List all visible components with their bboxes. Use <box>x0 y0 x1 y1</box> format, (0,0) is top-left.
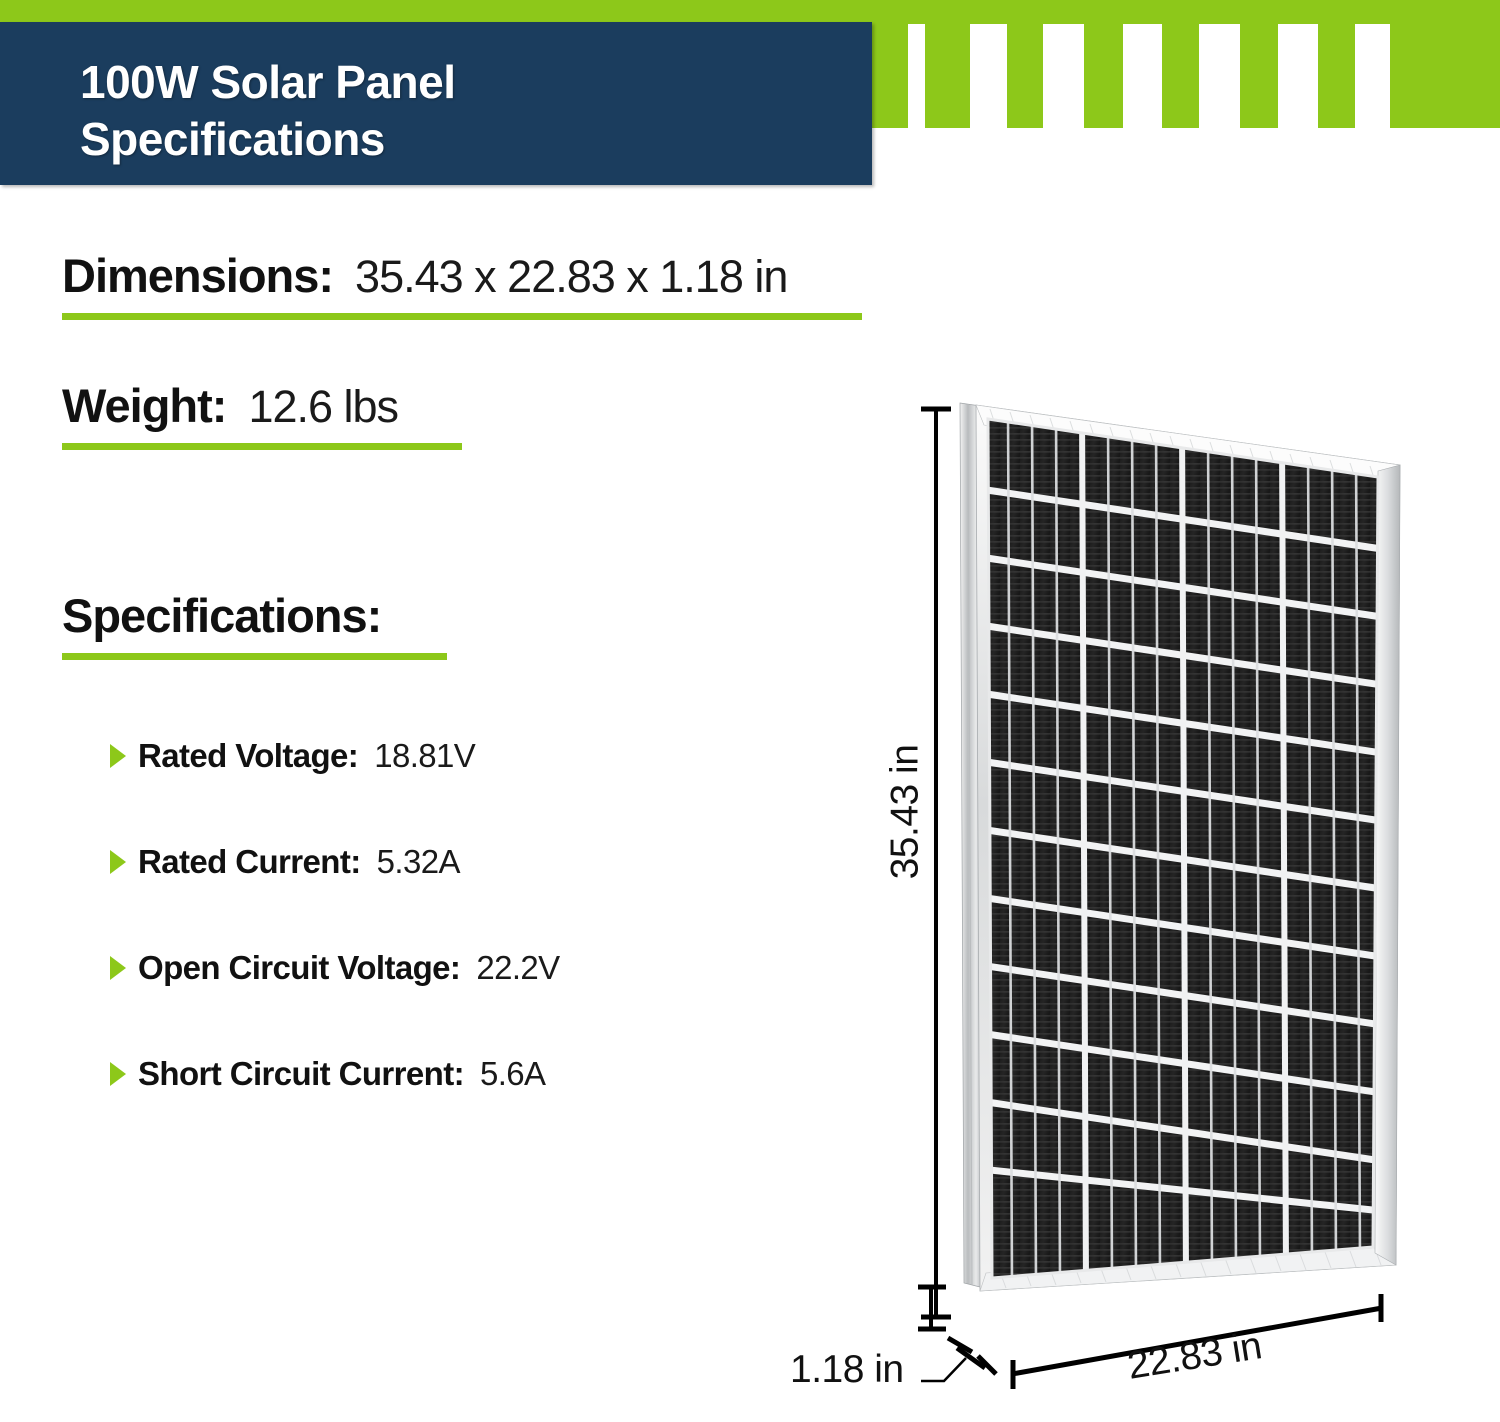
green-stripe-7 <box>1318 0 1355 128</box>
spec-value: 22.2V <box>476 949 559 987</box>
weight-block: Weight: 12.6 lbs <box>62 378 942 450</box>
list-item: Short Circuit Current: 5.6A <box>110 1046 560 1102</box>
dimensions-label: Dimensions: <box>62 248 333 303</box>
spec-label: Short Circuit Current: <box>138 1055 464 1093</box>
thickness-dimension-label: 1.18 in <box>790 1348 904 1392</box>
green-stripe-4 <box>1084 0 1123 128</box>
dimensions-block: Dimensions: 35.43 x 22.83 x 1.18 in <box>62 248 942 320</box>
specifications-block: Specifications: <box>62 588 942 660</box>
dimensions-value: 35.43 x 22.83 x 1.18 in <box>355 251 787 303</box>
triangle-bullet-icon <box>110 956 126 980</box>
spec-value: 18.81V <box>374 737 475 775</box>
specifications-heading: Specifications: <box>62 588 942 643</box>
specifications-underline <box>62 653 447 660</box>
weight-label: Weight: <box>62 378 226 433</box>
green-stripe-1 <box>872 0 908 128</box>
green-stripe-3 <box>1007 0 1043 128</box>
list-item: Rated Voltage: 18.81V <box>110 728 560 784</box>
spec-value: 5.32A <box>377 843 460 881</box>
height-dimension-label: 35.43 in <box>883 745 927 880</box>
list-item: Rated Current: 5.32A <box>110 834 560 890</box>
green-stripe-6 <box>1240 0 1278 128</box>
spec-value: 5.6A <box>480 1055 546 1093</box>
green-stripe-5 <box>1162 0 1199 128</box>
triangle-bullet-icon <box>110 744 126 768</box>
triangle-bullet-icon <box>110 1062 126 1086</box>
infographic-page: 100W Solar Panel Specifications Dimensio… <box>0 0 1500 1422</box>
solar-panel-image <box>930 385 1430 1335</box>
dimensions-underline <box>62 313 862 320</box>
page-title: 100W Solar Panel Specifications <box>80 54 456 168</box>
spec-label: Rated Current: <box>138 843 361 881</box>
spec-label: Rated Voltage: <box>138 737 358 775</box>
weight-value: 12.6 lbs <box>248 381 398 433</box>
specifications-list: Rated Voltage: 18.81V Rated Current: 5.3… <box>110 728 560 1152</box>
triangle-bullet-icon <box>110 850 126 874</box>
spec-label: Open Circuit Voltage: <box>138 949 460 987</box>
green-stripe-2 <box>925 0 970 128</box>
weight-underline <box>62 443 462 450</box>
title-banner: 100W Solar Panel Specifications <box>0 22 872 185</box>
list-item: Open Circuit Voltage: 22.2V <box>110 940 560 996</box>
green-stripe-8 <box>1390 0 1500 128</box>
